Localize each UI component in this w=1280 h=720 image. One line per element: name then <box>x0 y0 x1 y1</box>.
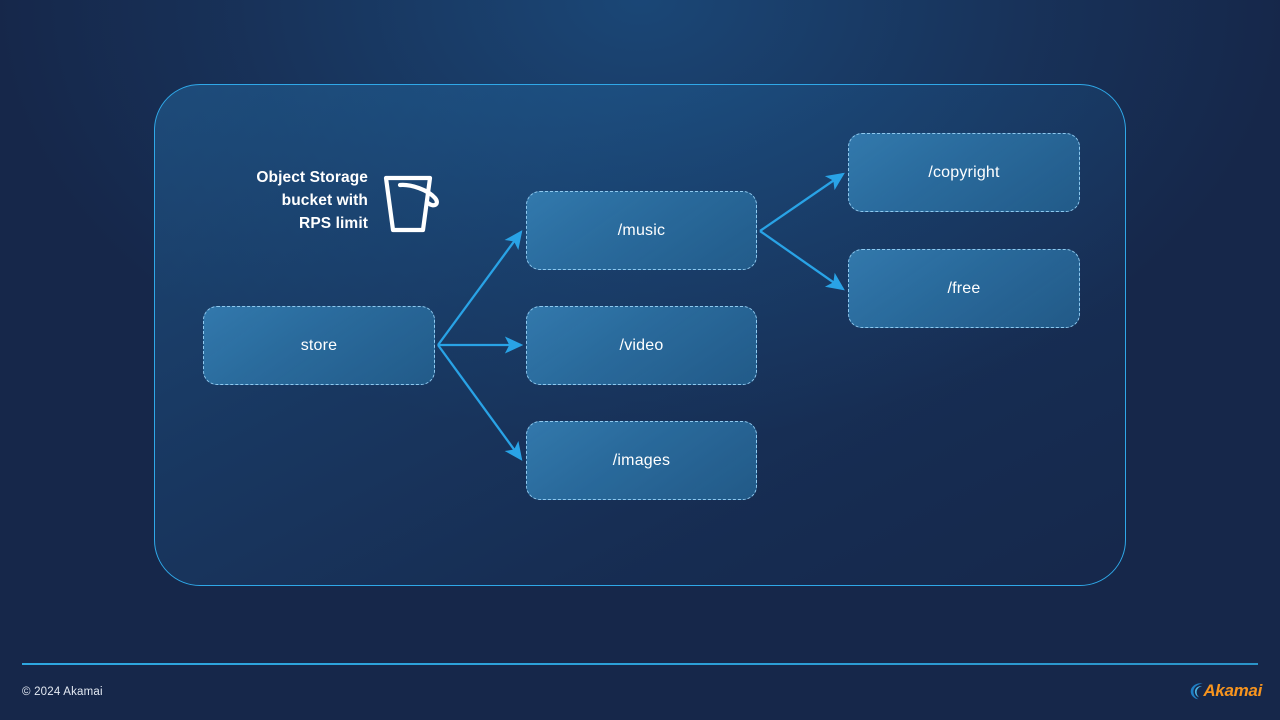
node-store[interactable]: store <box>203 306 435 385</box>
caption-line-1: Object Storage <box>226 166 368 189</box>
node-store-label: store <box>301 337 338 355</box>
caption-line-3: RPS limit <box>226 212 368 235</box>
node-music-label: /music <box>618 222 665 240</box>
node-free-label: /free <box>947 280 980 298</box>
node-images-label: /images <box>613 452 670 470</box>
node-images[interactable]: /images <box>526 421 757 500</box>
akamai-logo: Akamai <box>1188 678 1262 704</box>
footer-divider <box>22 663 1258 665</box>
node-video[interactable]: /video <box>526 306 757 385</box>
node-copyright-label: /copyright <box>928 164 999 182</box>
object-storage-bucket-group: Object Storage bucket with RPS limit <box>226 166 446 242</box>
bucket-icon <box>378 172 446 236</box>
node-music[interactable]: /music <box>526 191 757 270</box>
footer-copyright: © 2024 Akamai <box>22 686 103 698</box>
caption-line-2: bucket with <box>226 189 368 212</box>
object-storage-caption: Object Storage bucket with RPS limit <box>226 166 368 235</box>
node-video-label: /video <box>620 337 664 355</box>
node-free[interactable]: /free <box>848 249 1080 328</box>
node-copyright[interactable]: /copyright <box>848 133 1080 212</box>
akamai-wordmark: Akamai <box>1203 681 1262 701</box>
